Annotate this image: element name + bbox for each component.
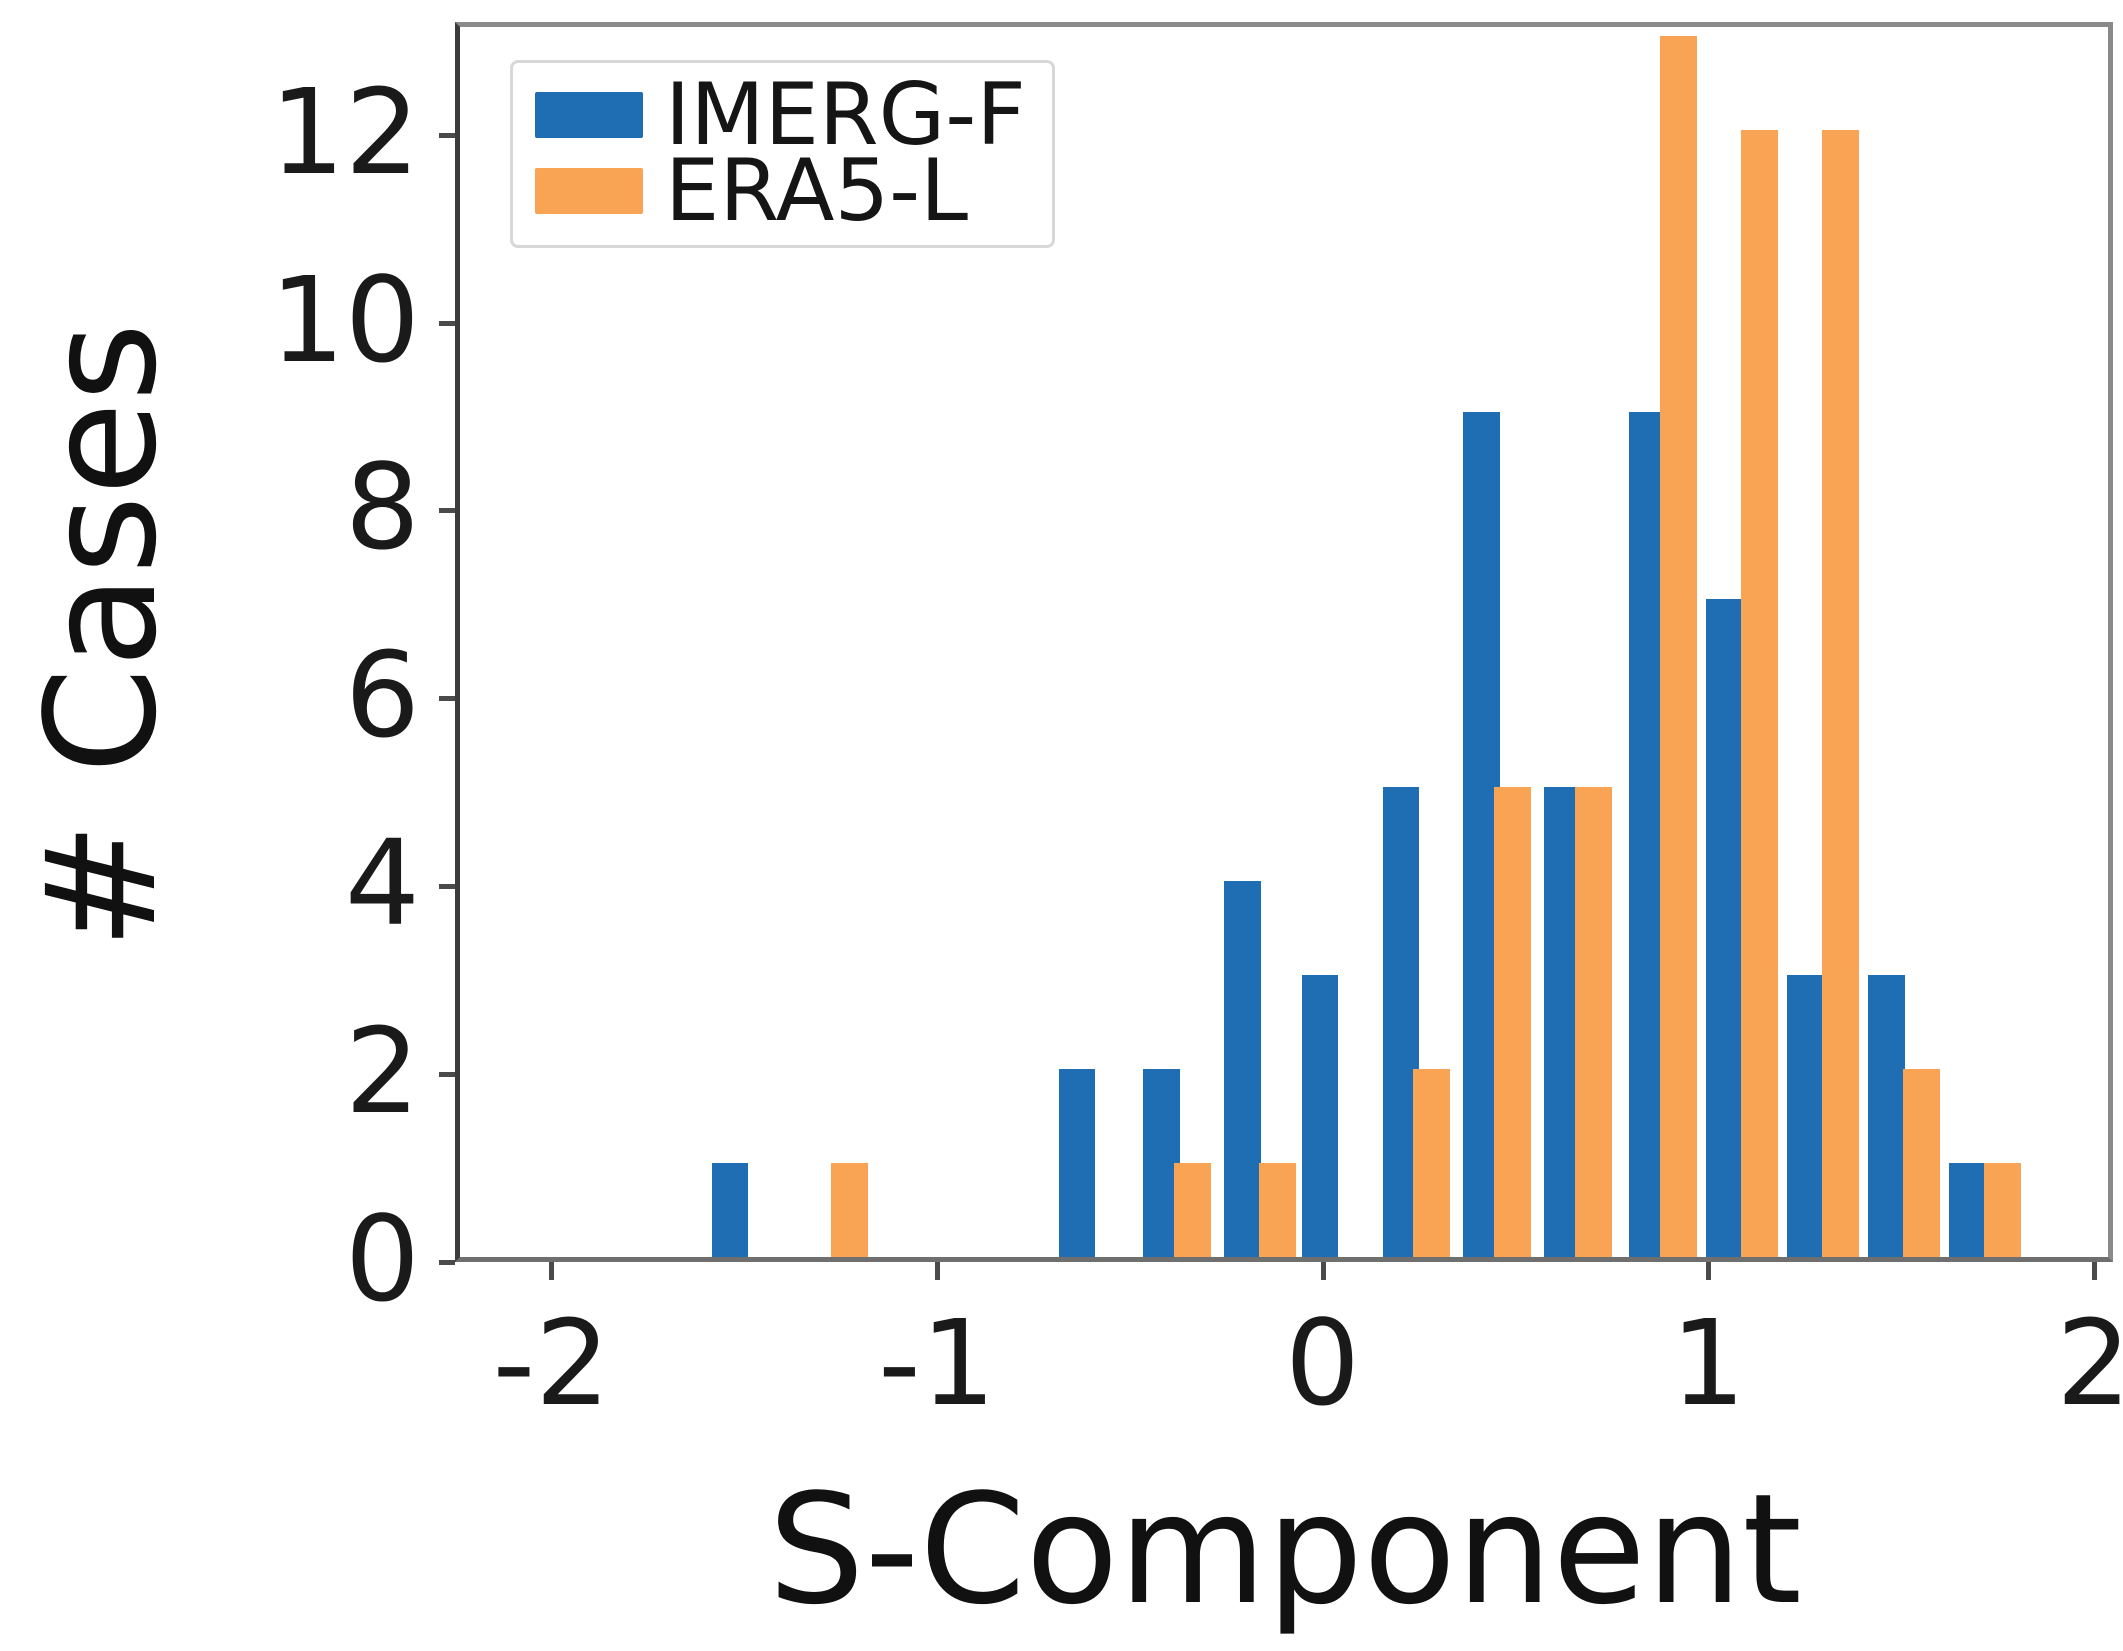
x-tick-label: -2 bbox=[493, 1304, 611, 1422]
y-tick-mark bbox=[439, 1260, 455, 1265]
legend-item[interactable]: ERA5-L bbox=[535, 153, 1026, 229]
bar bbox=[1302, 975, 1339, 1257]
bar bbox=[1868, 975, 1905, 1257]
y-tick-mark bbox=[439, 321, 455, 326]
legend-swatch-imerg-f bbox=[535, 92, 643, 138]
y-tick-label: 12 bbox=[120, 73, 420, 191]
x-axis-title: S-Component bbox=[455, 1470, 2115, 1630]
x-tick-label: 1 bbox=[1671, 1304, 1746, 1422]
bar bbox=[831, 1163, 868, 1257]
bar bbox=[1949, 1163, 1986, 1257]
bar bbox=[1413, 1069, 1450, 1257]
x-tick-label: 2 bbox=[2056, 1304, 2123, 1422]
y-axis-title: # Cases bbox=[26, 186, 178, 1086]
y-tick-mark bbox=[439, 133, 455, 138]
bar bbox=[1575, 787, 1612, 1257]
bar bbox=[1741, 130, 1778, 1257]
bar bbox=[1822, 130, 1859, 1257]
y-tick-label: 0 bbox=[120, 1200, 420, 1318]
x-tick-mark bbox=[1706, 1262, 1711, 1280]
x-tick-mark bbox=[935, 1262, 940, 1280]
bar bbox=[712, 1163, 749, 1257]
bar bbox=[1259, 1163, 1296, 1257]
legend-swatch-era5-l bbox=[535, 168, 643, 214]
x-tick-mark bbox=[1321, 1262, 1326, 1280]
bar bbox=[1787, 975, 1824, 1257]
figure: 024681012 -2-1012 # Cases S-Component IM… bbox=[0, 0, 2123, 1651]
y-tick-mark bbox=[439, 696, 455, 701]
x-tick-mark bbox=[2092, 1262, 2097, 1280]
bar bbox=[1903, 1069, 1940, 1257]
bar bbox=[1059, 1069, 1096, 1257]
x-tick-mark bbox=[549, 1262, 554, 1280]
y-tick-mark bbox=[439, 508, 455, 513]
y-tick-mark bbox=[439, 884, 455, 889]
bar bbox=[1224, 881, 1261, 1257]
legend: IMERG-F ERA5-L bbox=[510, 60, 1055, 248]
bar bbox=[1660, 36, 1697, 1257]
bar bbox=[1494, 787, 1531, 1257]
y-tick-mark bbox=[439, 1072, 455, 1077]
bar bbox=[1174, 1163, 1211, 1257]
bar bbox=[1984, 1163, 2021, 1257]
bar bbox=[1706, 599, 1743, 1257]
legend-label-era5-l: ERA5-L bbox=[665, 148, 968, 234]
x-tick-label: 0 bbox=[1285, 1304, 1360, 1422]
x-tick-label: -1 bbox=[878, 1304, 996, 1422]
